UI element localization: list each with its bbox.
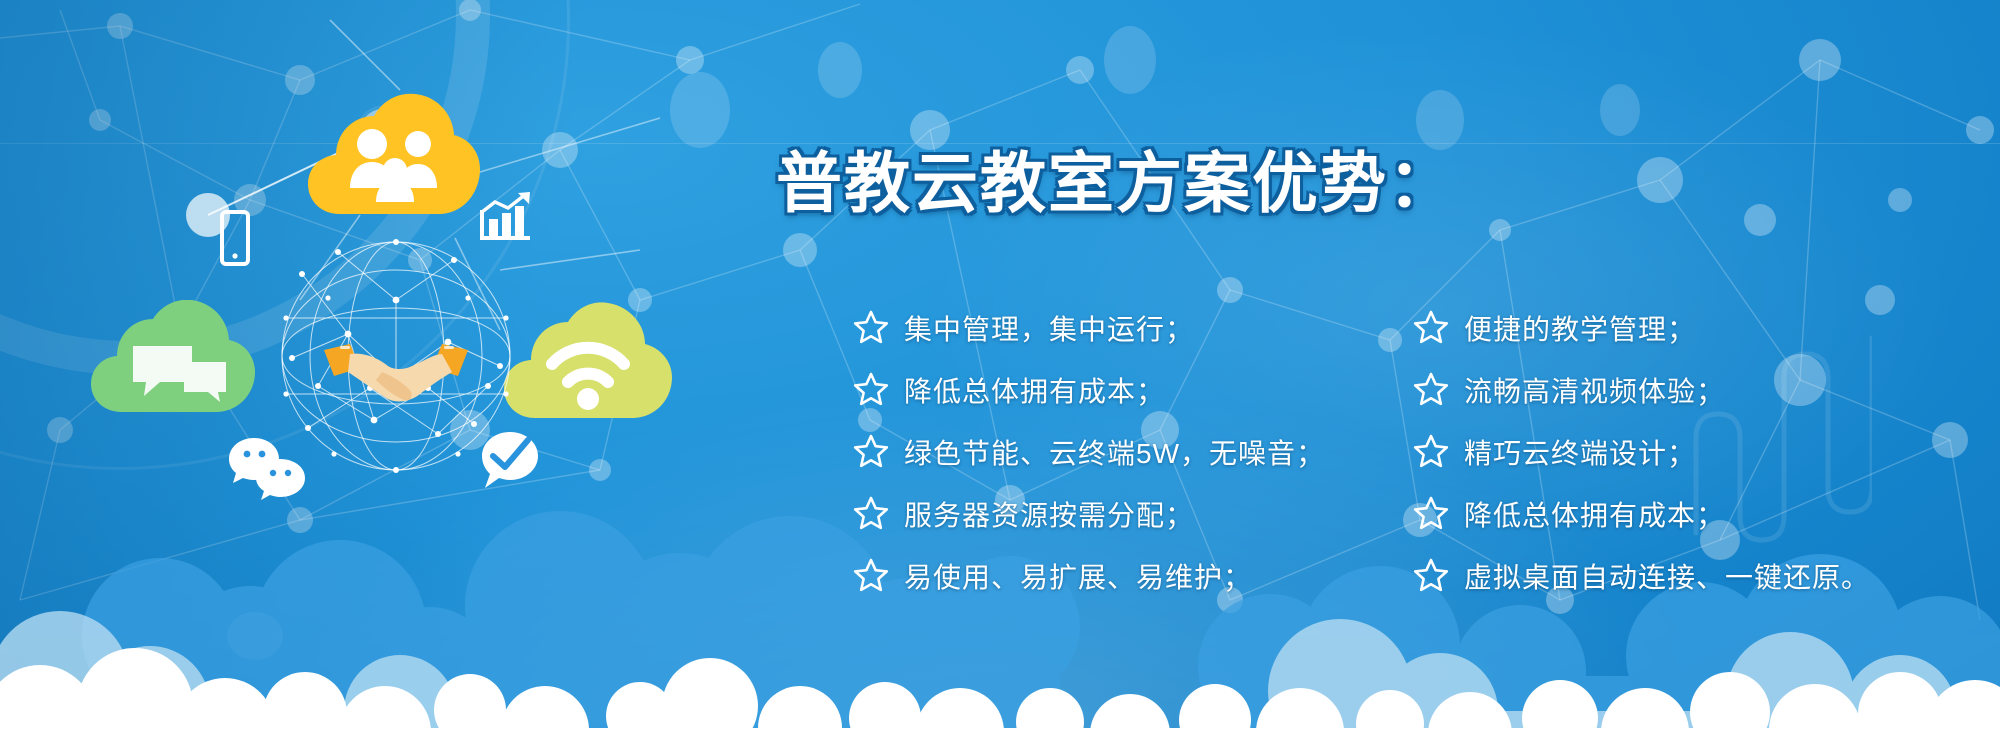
list-item-label: 精巧云终端设计； [1464, 432, 1696, 472]
list-item-label: 绿色节能、云终端5W，无噪音； [904, 432, 1325, 472]
advantages-left-column: 集中管理，集中运行； 降低总体拥有成本； 绿色节能、云终端5W，无噪音； [852, 302, 1412, 612]
handshake-globe-icon [278, 238, 514, 474]
list-item: 集中管理，集中运行； [852, 302, 1412, 353]
list-item: 虚拟桌面自动连接、一键还原。 [1412, 550, 1992, 601]
list-item-label: 便捷的教学管理； [1464, 308, 1696, 348]
advantages-list: 集中管理，集中运行； 降低总体拥有成本； 绿色节能、云终端5W，无噪音； [852, 302, 1992, 612]
list-item: 降低总体拥有成本； [852, 364, 1412, 415]
wifi-cloud-icon [500, 302, 678, 424]
people-cloud-icon [304, 92, 484, 222]
star-icon [1412, 557, 1450, 595]
list-item: 易使用、易扩展、易维护； [852, 550, 1412, 601]
star-icon [852, 557, 890, 595]
star-icon [1412, 495, 1450, 533]
list-item-label: 服务器资源按需分配； [904, 494, 1194, 534]
advantages-right-column: 便捷的教学管理； 流畅高清视频体验； 精巧云终端设计； [1412, 302, 1992, 612]
star-icon [852, 309, 890, 347]
banner-root: 普教云教室方案优势： 集中管理，集中运行； 降低总体拥有成本； [0, 0, 2000, 736]
list-item: 降低总体拥有成本； [1412, 488, 1992, 539]
list-item-label: 流畅高清视频体验； [1464, 370, 1725, 410]
star-icon [1412, 309, 1450, 347]
list-item: 流畅高清视频体验； [1412, 364, 1992, 415]
list-item-label: 降低总体拥有成本； [1464, 494, 1725, 534]
star-icon [1412, 371, 1450, 409]
star-icon [1412, 433, 1450, 471]
smartphone-icon [219, 209, 251, 267]
star-icon [852, 371, 890, 409]
list-item: 精巧云终端设计； [1412, 426, 1992, 477]
chat-cloud-icon [88, 300, 264, 418]
wechat-bubbles-icon [228, 437, 310, 507]
star-icon [852, 433, 890, 471]
list-item-label: 集中管理，集中运行； [904, 308, 1194, 348]
star-icon [852, 495, 890, 533]
list-item-label: 降低总体拥有成本； [904, 370, 1165, 410]
list-item-label: 易使用、易扩展、易维护； [904, 556, 1252, 596]
content-panel: 普教云教室方案优势： 集中管理，集中运行； 降低总体拥有成本； [760, 0, 2000, 736]
list-item: 服务器资源按需分配； [852, 488, 1412, 539]
list-item: 绿色节能、云终端5W，无噪音； [852, 426, 1412, 477]
bar-chart-growth-icon [478, 192, 534, 244]
page-title: 普教云教室方案优势： [776, 130, 1456, 226]
check-bubble-icon [480, 430, 540, 492]
list-item-label: 虚拟桌面自动连接、一键还原。 [1464, 556, 1870, 596]
list-item: 便捷的教学管理； [1412, 302, 1992, 353]
